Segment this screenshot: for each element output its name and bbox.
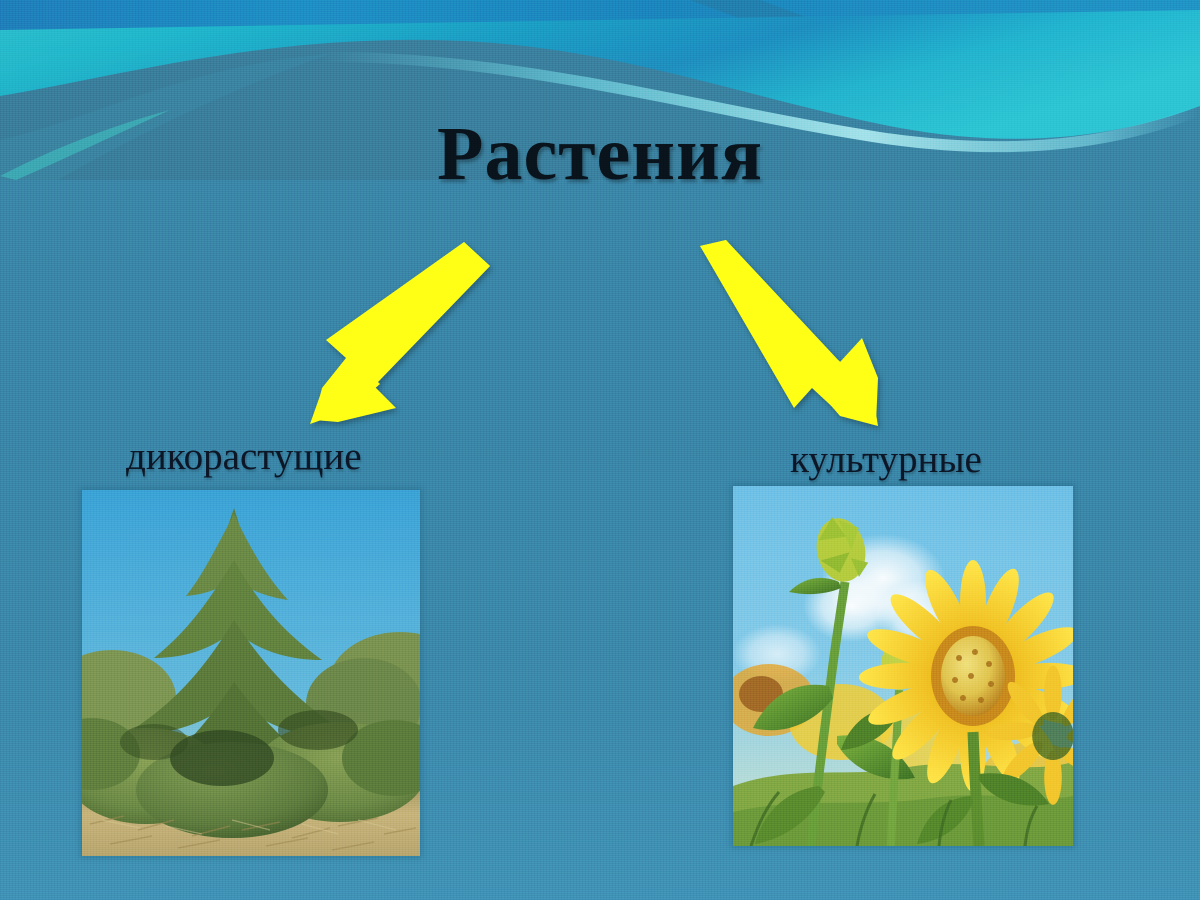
sunflower-field-photo <box>733 486 1073 846</box>
spruce-tree-photo <box>82 490 420 856</box>
presentation-slide: Растения дикорастущие культурные <box>0 0 1200 900</box>
category-label-wild: дикорастущие <box>126 437 362 476</box>
spruce-tree-illustration <box>82 490 420 856</box>
arrow-down-left-icon <box>300 238 500 428</box>
page-title: Растения <box>0 116 1200 192</box>
arrow-down-right-icon <box>690 238 890 433</box>
category-label-cultivated: культурные <box>790 440 982 479</box>
sunflower-field-illustration <box>733 486 1073 846</box>
